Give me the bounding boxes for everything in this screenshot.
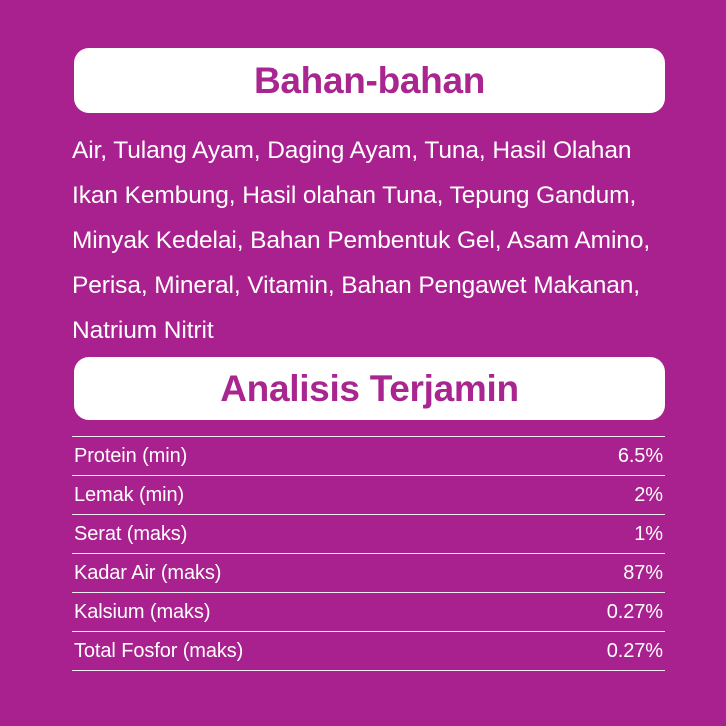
analysis-row-label: Kadar Air (maks) <box>72 554 515 593</box>
analysis-row-value: 1% <box>515 515 665 554</box>
analysis-row-label: Kalsium (maks) <box>72 593 515 632</box>
table-row: Lemak (min) 2% <box>72 476 665 515</box>
ingredients-banner-title: Bahan-bahan <box>254 62 485 99</box>
analysis-row-value: 2% <box>515 476 665 515</box>
guaranteed-analysis-table: Protein (min) 6.5% Lemak (min) 2% Serat … <box>72 436 665 671</box>
analysis-row-label: Total Fosfor (maks) <box>72 632 515 671</box>
table-row: Protein (min) 6.5% <box>72 437 665 476</box>
ingredients-banner: Bahan-bahan <box>74 48 665 113</box>
table-row: Serat (maks) 1% <box>72 515 665 554</box>
analysis-row-value: 0.27% <box>515 632 665 671</box>
table-row: Kalsium (maks) 0.27% <box>72 593 665 632</box>
table-row: Total Fosfor (maks) 0.27% <box>72 632 665 671</box>
analysis-row-value: 87% <box>515 554 665 593</box>
analysis-row-label: Protein (min) <box>72 437 515 476</box>
nutrition-label-page: Bahan-bahan Air, Tulang Ayam, Daging Aya… <box>0 0 726 726</box>
analysis-table-body: Protein (min) 6.5% Lemak (min) 2% Serat … <box>72 437 665 671</box>
analysis-row-value: 0.27% <box>515 593 665 632</box>
analysis-row-label: Serat (maks) <box>72 515 515 554</box>
analysis-row-value: 6.5% <box>515 437 665 476</box>
table-row: Kadar Air (maks) 87% <box>72 554 665 593</box>
analysis-banner-title: Analisis Terjamin <box>220 370 519 407</box>
analysis-banner: Analisis Terjamin <box>74 357 665 420</box>
analysis-row-label: Lemak (min) <box>72 476 515 515</box>
ingredients-text: Air, Tulang Ayam, Daging Ayam, Tuna, Has… <box>72 128 672 353</box>
